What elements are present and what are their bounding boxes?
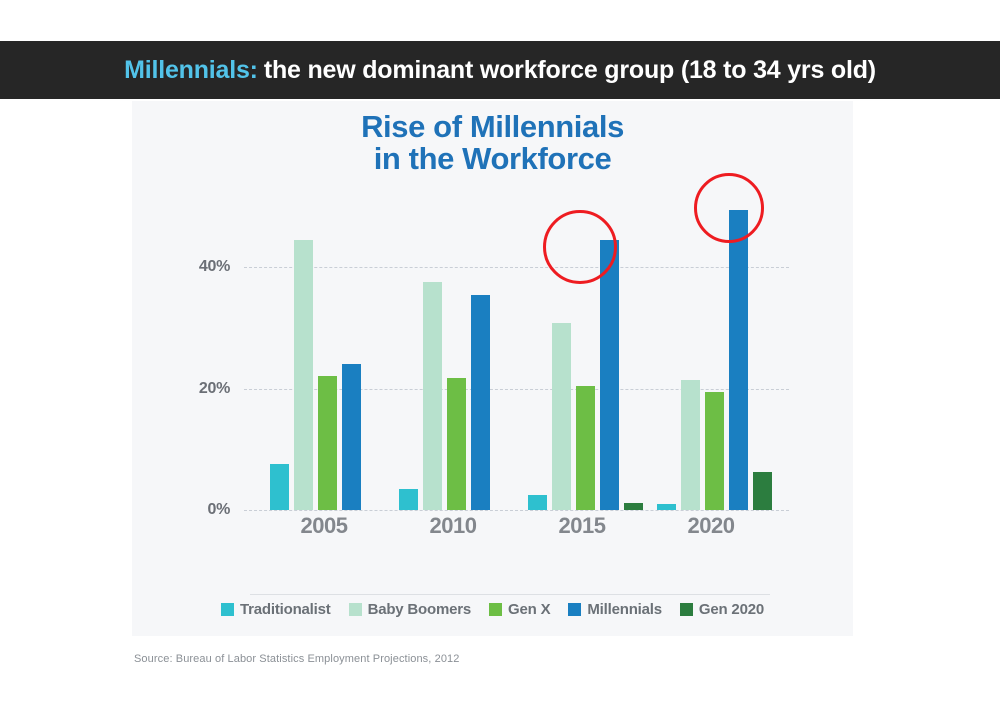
legend-label: Millennials (587, 601, 662, 618)
source-note: Source: Bureau of Labor Statistics Emplo… (134, 653, 459, 665)
gridline-0 (244, 510, 789, 511)
legend-divider (250, 594, 770, 595)
legend-label: Gen X (508, 601, 550, 618)
legend-swatch-icon (489, 603, 502, 616)
bar-traditionalist-2015 (528, 495, 547, 510)
highlight-millennials-2020-circle-annotation (694, 173, 764, 243)
legend-item-gen-2020[interactable]: Gen 2020 (680, 601, 764, 618)
legend-item-baby-boomers[interactable]: Baby Boomers (349, 601, 471, 618)
header-title: Millennials: the new dominant workforce … (0, 41, 1000, 99)
header-title-rest: the new dominant workforce group (18 to … (264, 56, 876, 85)
bar-traditionalist-2010 (399, 489, 418, 510)
bar-gen-x-2015 (576, 386, 595, 510)
slide-canvas: Millennials: the new dominant workforce … (0, 0, 1000, 703)
header-bar: Millennials: the new dominant workforce … (0, 41, 1000, 99)
legend-swatch-icon (568, 603, 581, 616)
legend-label: Gen 2020 (699, 601, 764, 618)
bar-millennials-2010 (471, 295, 490, 510)
bar-group-2020 (657, 210, 772, 510)
legend-item-traditionalist[interactable]: Traditionalist (221, 601, 331, 618)
header-title-highlight: Millennials: (124, 56, 258, 85)
bar-millennials-2015 (600, 240, 619, 510)
bar-millennials-2020 (729, 210, 748, 510)
x-axis-label-2015: 2015 (522, 513, 642, 539)
legend-swatch-icon (221, 603, 234, 616)
legend-swatch-icon (680, 603, 693, 616)
chart-legend: TraditionalistBaby BoomersGen XMillennia… (132, 601, 853, 618)
y-axis-label: 40% (164, 258, 230, 276)
x-axis-label-2005: 2005 (264, 513, 384, 539)
bar-baby-boomers-2005 (294, 240, 313, 510)
legend-label: Baby Boomers (368, 601, 471, 618)
bar-group-2010 (399, 210, 490, 510)
bar-traditionalist-2020 (657, 504, 676, 510)
bar-gen-x-2010 (447, 378, 466, 510)
highlight-millennials-2015-circle-annotation (543, 210, 617, 284)
bar-traditionalist-2005 (270, 464, 289, 510)
bar-gen-x-2020 (705, 392, 724, 510)
bar-baby-boomers-2015 (552, 323, 571, 510)
bar-gen-2020-2015 (624, 503, 643, 510)
legend-item-millennials[interactable]: Millennials (568, 601, 662, 618)
bar-gen-2020-2020 (753, 472, 772, 510)
y-axis-label: 0% (164, 501, 230, 519)
legend-swatch-icon (349, 603, 362, 616)
bar-gen-x-2005 (318, 376, 337, 510)
bar-baby-boomers-2010 (423, 282, 442, 510)
legend-item-gen-x[interactable]: Gen X (489, 601, 550, 618)
x-axis-label-2010: 2010 (393, 513, 513, 539)
bar-group-2005 (270, 210, 361, 510)
x-axis-label-2020: 2020 (651, 513, 771, 539)
y-axis-label: 20% (164, 380, 230, 398)
bar-millennials-2005 (342, 364, 361, 510)
chart-panel: Rise of Millennials in the Workforce 0%2… (132, 101, 853, 636)
legend-label: Traditionalist (240, 601, 331, 618)
bar-baby-boomers-2020 (681, 380, 700, 511)
